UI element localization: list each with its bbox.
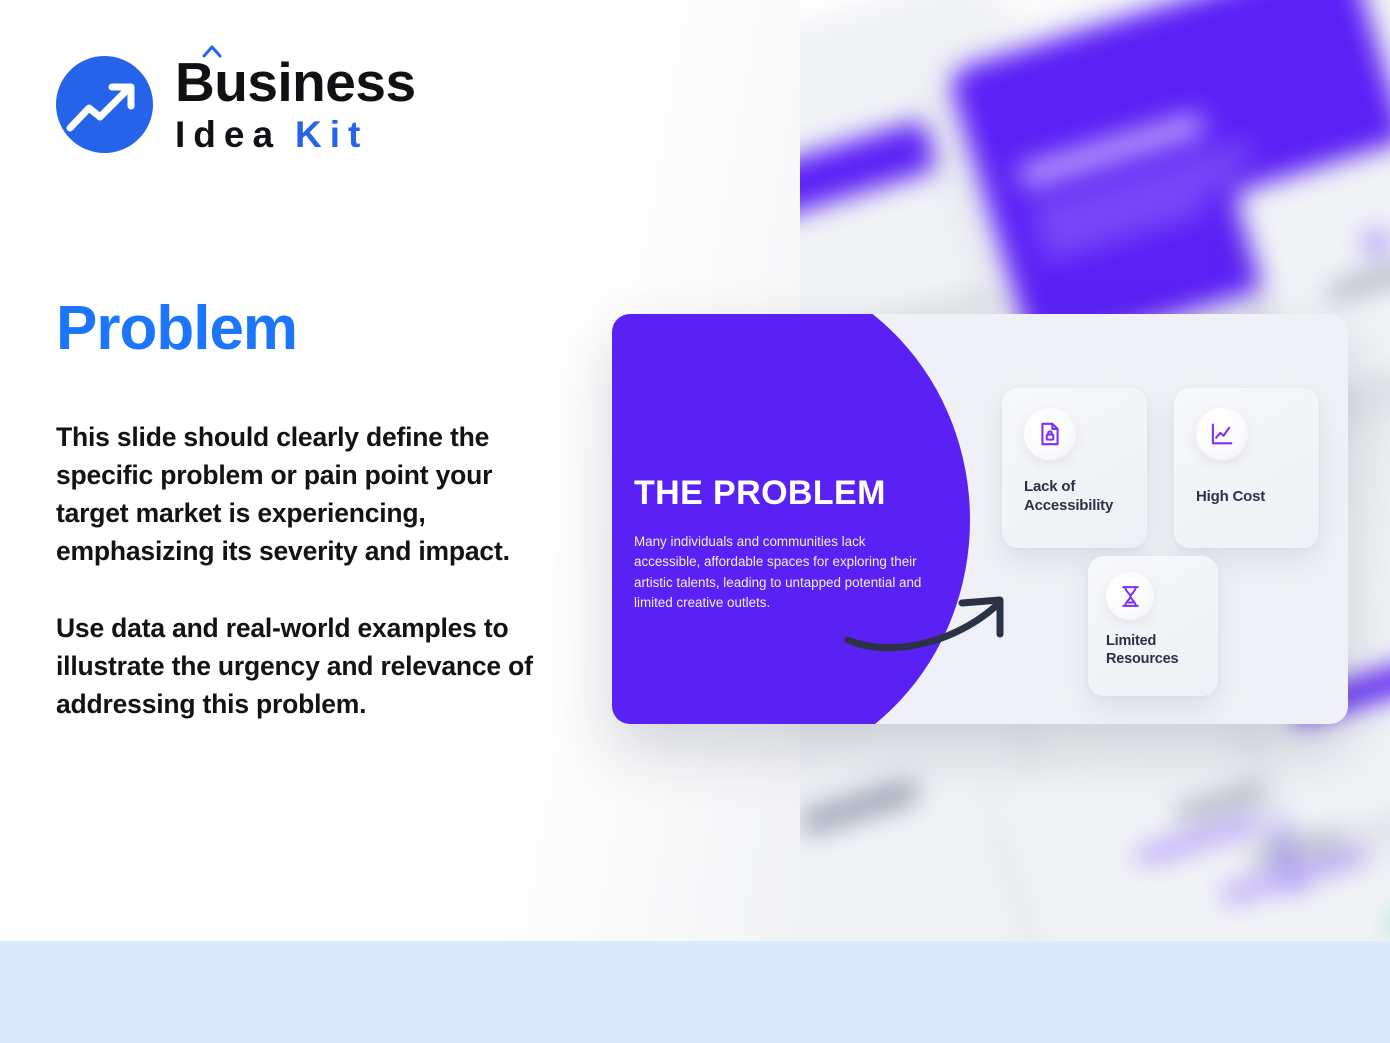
slide-preview-title: THE PROBLEM bbox=[634, 474, 964, 513]
description-paragraph: Use data and real-world examples to illu… bbox=[56, 609, 566, 723]
page-title: Problem bbox=[56, 296, 297, 361]
feature-tile-lack-of-accessibility[interactable]: Lack of Accessibility bbox=[1002, 388, 1147, 548]
feature-tile-label: Lack of Accessibility bbox=[1024, 478, 1137, 516]
brand-name-secondary: Idea Kit bbox=[175, 116, 416, 153]
hourglass-icon bbox=[1118, 584, 1143, 609]
curved-arrow-icon bbox=[844, 590, 1019, 656]
brand-wordmark: Business Idea Kit bbox=[175, 55, 416, 153]
icon-badge bbox=[1106, 572, 1154, 620]
feature-tile-limited-resources[interactable]: Limited Resources bbox=[1088, 556, 1218, 696]
feature-tile-high-cost[interactable]: High Cost bbox=[1174, 388, 1319, 548]
description-block: This slide should clearly define the spe… bbox=[56, 418, 566, 723]
icon-badge bbox=[1024, 408, 1076, 460]
purple-circle-shape bbox=[612, 314, 970, 724]
icon-badge bbox=[1196, 408, 1248, 460]
brand-logo[interactable]: Business Idea Kit bbox=[56, 55, 416, 153]
brand-name-idea: Idea bbox=[175, 116, 281, 153]
circumflex-accent-icon bbox=[202, 44, 222, 58]
document-lock-icon bbox=[1037, 421, 1063, 447]
brand-name-primary: Business bbox=[175, 55, 416, 110]
slide-page: THE PROBLEM Many individuals and communi… bbox=[0, 0, 1390, 1043]
growth-arrow-chart-icon bbox=[56, 56, 153, 153]
description-paragraph: This slide should clearly define the spe… bbox=[56, 418, 566, 571]
feature-tile-label: High Cost bbox=[1196, 488, 1309, 507]
brand-name-kit: Kit bbox=[295, 116, 368, 153]
slide-preview-card[interactable]: THE PROBLEM Many individuals and communi… bbox=[612, 314, 1348, 724]
feature-tile-label: Limited Resources bbox=[1106, 632, 1208, 668]
footer-band bbox=[0, 941, 1390, 1043]
line-chart-icon bbox=[1209, 421, 1235, 447]
